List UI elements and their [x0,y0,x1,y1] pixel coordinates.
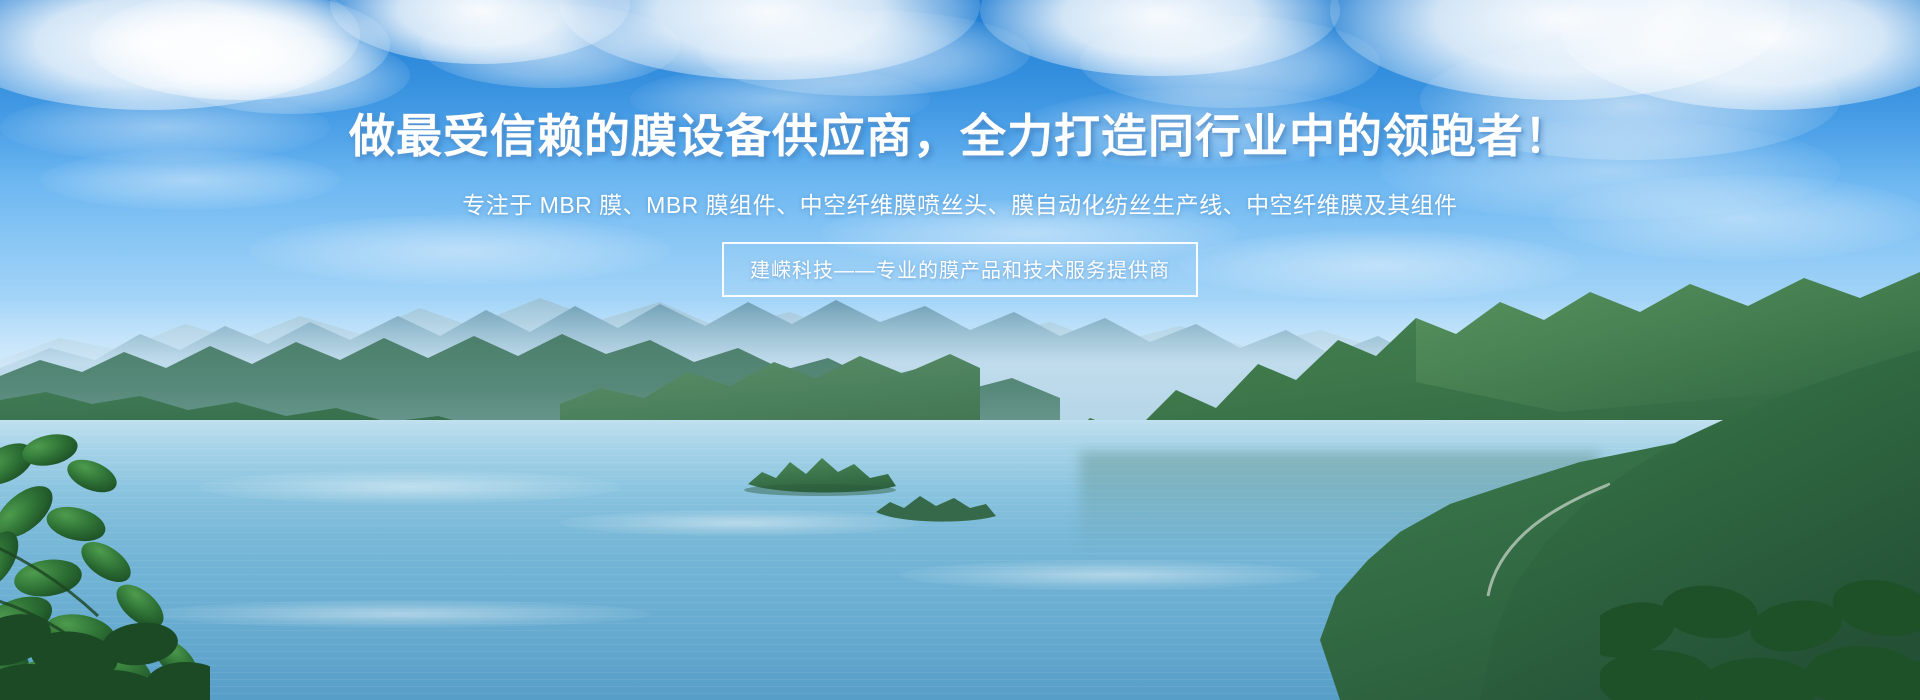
banner-subheadline: 专注于 MBR 膜、MBR 膜组件、中空纤维膜喷丝头、膜自动化纺丝生产线、中空纤… [0,186,1920,220]
banner-tagline-box: 建嵘科技——专业的膜产品和技术服务提供商 [722,242,1198,297]
banner-tagline-wrapper: 建嵘科技——专业的膜产品和技术服务提供商 [0,242,1920,297]
banner-headline: 做最受信赖的膜设备供应商，全力打造同行业中的领跑者！ [0,100,1920,166]
hero-banner: 做最受信赖的膜设备供应商，全力打造同行业中的领跑者！ 专注于 MBR 膜、MBR… [0,0,1920,700]
banner-text-overlay: 做最受信赖的膜设备供应商，全力打造同行业中的领跑者！ 专注于 MBR 膜、MBR… [0,0,1920,700]
